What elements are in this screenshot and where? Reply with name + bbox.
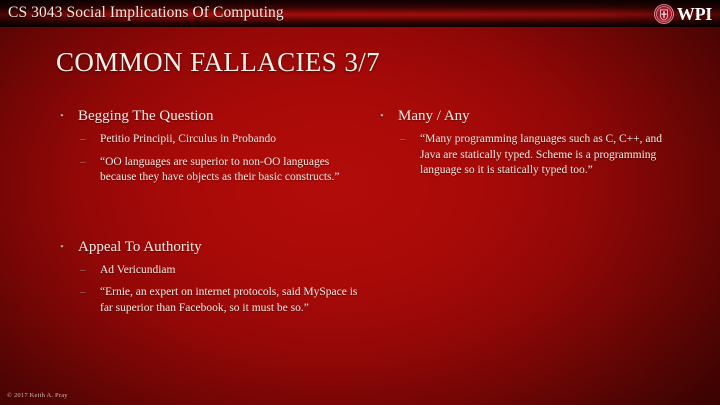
sub-bullet: – “Ernie, an expert on internet protocol… [58,285,358,316]
dash-marker-icon: – [80,285,86,301]
bullet-heading: • Appeal To Authority [58,237,358,258]
dash-marker-icon: – [80,155,86,171]
sub-bullet-label: Petitio Principii, Circulus in Probando [100,133,276,145]
bullet-marker-icon: • [60,106,64,127]
group-spacer [58,193,358,237]
bullet-marker-icon: • [380,106,384,127]
wpi-wordmark: WPI [677,4,712,24]
content-column-left: • Begging The Question – Petitio Princip… [58,106,358,323]
sub-bullet-label: “OO languages are superior to non-OO lan… [100,156,340,184]
sub-bullet: – Ad Vericundiam [58,263,358,279]
slide-body: • Begging The Question – Petitio Princip… [0,106,720,376]
bullet-heading-label: Appeal To Authority [78,239,202,255]
content-column-right: • Many / Any – “Many programming languag… [378,106,678,186]
sub-bullet: – “OO languages are superior to non-OO l… [58,155,358,186]
sub-bullet-label: “Many programming languages such as C, C… [420,133,662,176]
sub-bullet-label: Ad Vericundiam [100,264,175,276]
bullet-group-appeal-to-authority: • Appeal To Authority – Ad Vericundiam –… [58,237,358,317]
dash-marker-icon: – [80,132,86,148]
wpi-seal-icon [654,4,674,24]
bullet-heading: • Many / Any [378,106,678,127]
slide-canvas: CS 3043 Social Implications Of Computing… [0,0,720,405]
slide-header-bar: CS 3043 Social Implications Of Computing… [0,0,720,27]
dash-marker-icon: – [400,132,406,148]
bullet-group-many-any: • Many / Any – “Many programming languag… [378,106,678,179]
sub-bullet: – “Many programming languages such as C,… [378,132,678,179]
sub-bullet: – Petitio Principii, Circulus in Proband… [58,132,358,148]
copyright-notice: © 2017 Keith A. Pray [7,391,68,400]
wpi-logo: WPI [654,2,712,25]
bullet-heading-label: Begging The Question [78,108,214,124]
course-title: CS 3043 Social Implications Of Computing [8,2,284,24]
bullet-marker-icon: • [60,237,64,258]
bullet-heading-label: Many / Any [398,108,470,124]
bullet-group-begging-the-question: • Begging The Question – Petitio Princip… [58,106,358,186]
dash-marker-icon: – [80,263,86,279]
bullet-heading: • Begging The Question [58,106,358,127]
sub-bullet-label: “Ernie, an expert on internet protocols,… [100,286,357,314]
page-title: COMMON FALLACIES 3/7 [56,45,380,79]
